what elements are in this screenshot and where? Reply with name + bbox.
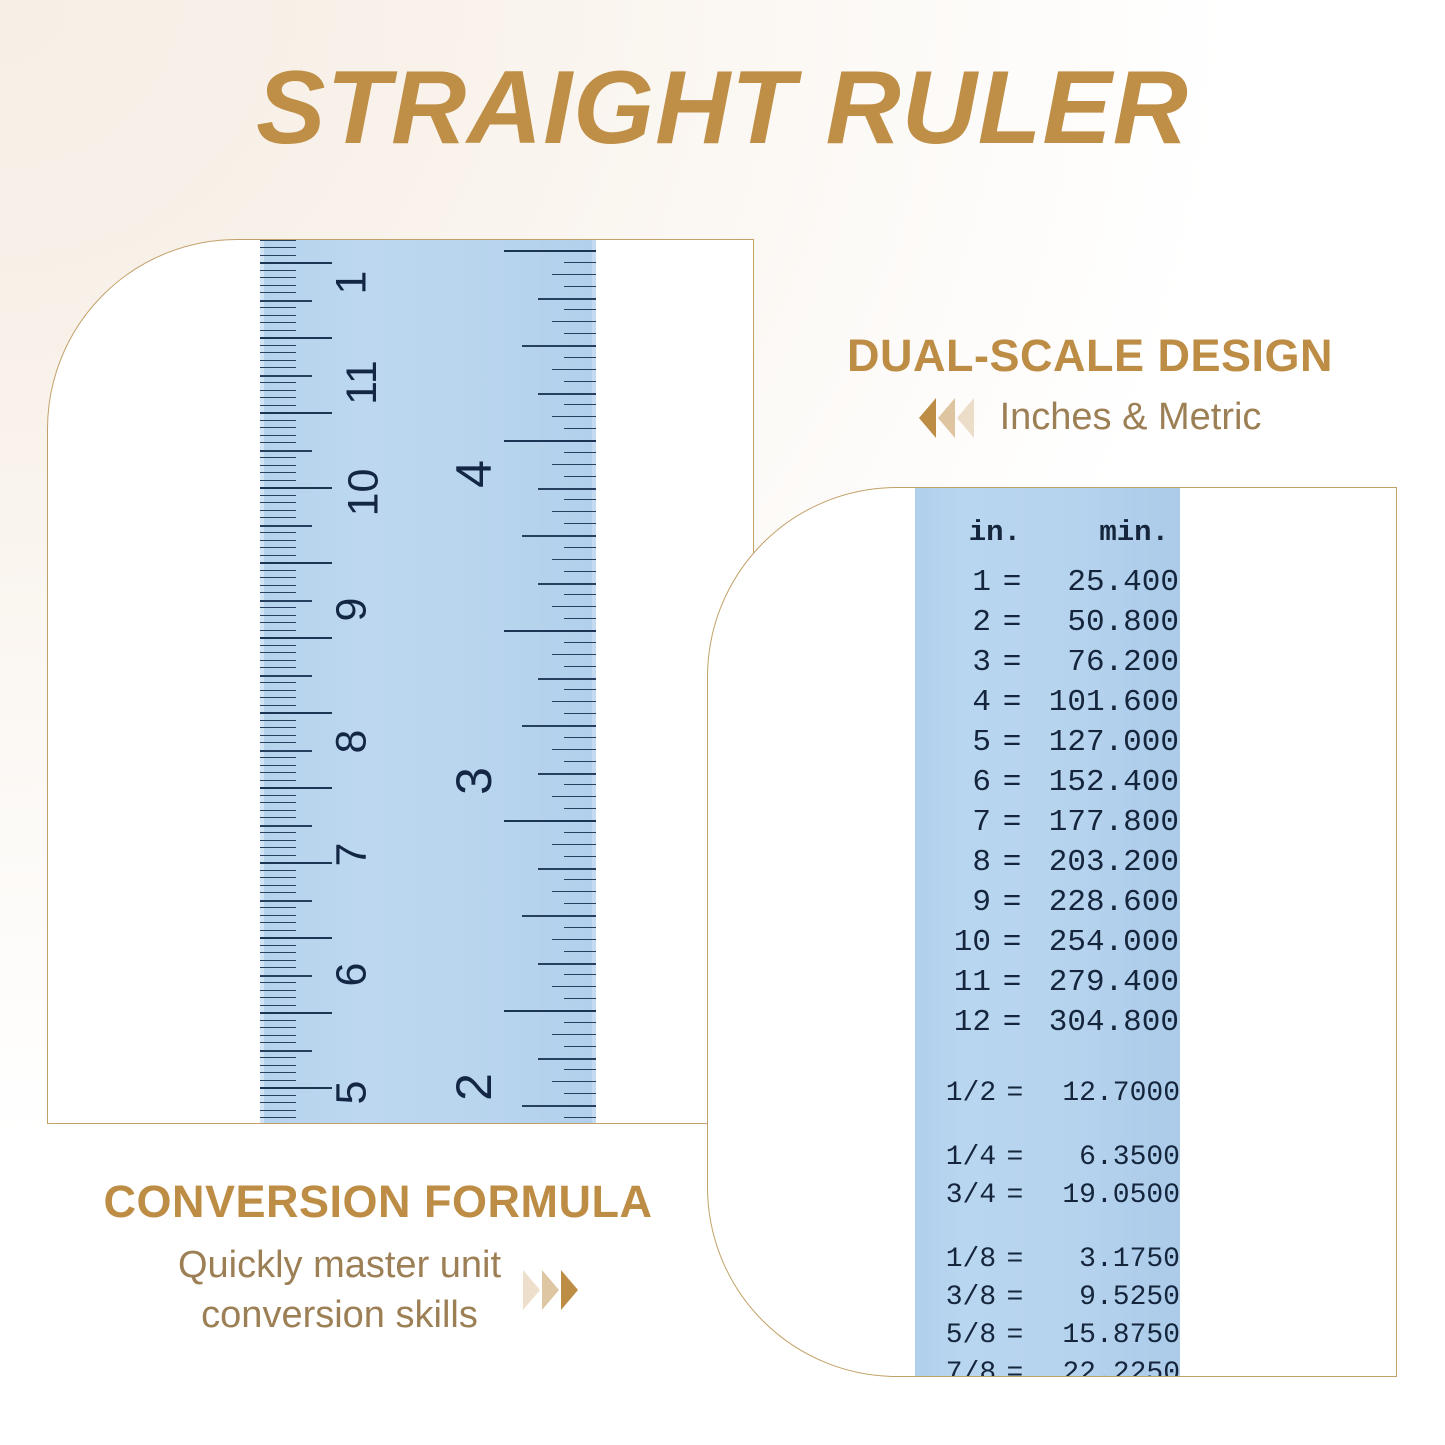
ruler-tick-inch [564, 571, 596, 572]
ruler-tick-inch [564, 832, 596, 833]
ruler-number-metric: 8 [327, 730, 376, 754]
ruler-tick-inch [504, 440, 596, 442]
ruler-tick-metric [260, 885, 296, 886]
product-infographic: STRAIGHT RULER 1111098765 432 in. min. 1… [0, 0, 1445, 1445]
ruler-tick-metric [260, 1102, 296, 1103]
ruler-tick-metric [260, 540, 296, 541]
ruler-tick-inch [538, 963, 596, 965]
ruler-tick-metric [260, 562, 332, 564]
ruler-tick-inch [538, 393, 596, 395]
ruler-tick-metric [260, 420, 296, 421]
ruler-tick-inch [564, 808, 596, 809]
eighth-inch-rows: 1/8=3.17503/8=9.52505/8=15.87507/8=22.22… [915, 1241, 1180, 1377]
equals-sign: = [996, 1075, 1034, 1113]
conversion-formula-title: CONVERSION FORMULA [48, 1176, 708, 1228]
chevron-right-icon [523, 1270, 540, 1310]
ruler-tick-metric [260, 705, 296, 706]
ruler-tick-metric [260, 667, 296, 668]
ruler-tick-metric [260, 285, 296, 286]
equals-sign: = [991, 1003, 1033, 1043]
conversion-inches: 5/8 [925, 1317, 996, 1355]
conversion-millimeters: 127.000 [1033, 723, 1179, 763]
ruler-tick-metric [260, 345, 296, 346]
ruler-tick-inch [564, 286, 596, 287]
ruler-tick-inch [538, 298, 596, 300]
ruler-tick-metric [260, 945, 296, 946]
equals-sign: = [996, 1177, 1034, 1215]
ruler-tick-metric [260, 795, 296, 796]
conversion-inches: 3 [925, 643, 991, 683]
conversion-millimeters: 15.8750 [1034, 1317, 1180, 1355]
ruler-tick-inch [564, 381, 596, 382]
ruler-tick-inch [564, 713, 596, 714]
ruler-tick-metric [260, 720, 296, 721]
equals-sign: = [991, 723, 1033, 763]
ruler-tick-inch [564, 499, 596, 500]
ruler-tick-metric [260, 787, 332, 789]
chevron-right-icon [542, 1270, 559, 1310]
conversion-inches: 4 [925, 683, 991, 723]
ruler-tick-inch [564, 1046, 596, 1047]
feature-conversion-formula: CONVERSION FORMULA Quickly master unit c… [48, 1176, 708, 1340]
ruler-tick-inch [564, 689, 596, 690]
conversion-row: 5=127.000 [915, 723, 1180, 763]
ruler-tick-metric [260, 772, 296, 773]
table-gap [915, 1113, 1180, 1139]
ruler-tick-metric [260, 622, 296, 623]
ruler-tick-inch [564, 476, 596, 477]
ruler-tick-inch [564, 1069, 596, 1070]
ruler-number-metric: 10 [339, 469, 388, 517]
conversion-row: 10=254.000 [915, 923, 1180, 963]
ruler-tick-metric [260, 975, 312, 977]
ruler-tick-metric [260, 990, 296, 991]
ruler-tick-inch [552, 511, 596, 512]
ruler-tick-metric [260, 292, 296, 293]
ruler-tick-metric [260, 615, 296, 616]
ruler-tick-metric [260, 480, 296, 481]
ruler-tick-inch [552, 464, 596, 465]
half-inch-rows: 1/2=12.7000 [915, 1075, 1180, 1113]
ruler-tick-inch [564, 1093, 596, 1094]
ruler-tick-metric [260, 780, 296, 781]
quarter-inch-rows: 1/4=6.35003/4=19.0500 [915, 1139, 1180, 1215]
conversion-row: 8=203.200 [915, 843, 1180, 883]
ruler-tick-metric [260, 870, 296, 871]
conversion-row: 4=101.600 [915, 683, 1180, 723]
conversion-millimeters: 25.400 [1033, 563, 1179, 603]
ruler-tick-inch [564, 951, 596, 952]
chevron-left-icon [919, 398, 936, 438]
ruler-tick-metric [260, 360, 296, 361]
ruler-tick-inch [564, 927, 596, 928]
ruler-number-inch: 3 [445, 767, 503, 795]
ruler-tick-metric [260, 832, 296, 833]
ruler-tick-metric [260, 465, 296, 466]
ruler-tick-metric [260, 600, 312, 602]
conversion-millimeters: 228.600 [1033, 883, 1179, 923]
conversion-row: 3=76.200 [915, 643, 1180, 683]
conversion-row: 7=177.800 [915, 803, 1180, 843]
ruler-tick-inch [564, 594, 596, 595]
ruler-tick-metric [260, 472, 296, 473]
equals-sign: = [996, 1279, 1034, 1317]
ruler-tick-inch [552, 1081, 596, 1082]
conversion-millimeters: 152.400 [1033, 763, 1179, 803]
ruler-tick-metric [260, 547, 296, 548]
ruler-tick-inch [564, 547, 596, 548]
conversion-millimeters: 203.200 [1033, 843, 1179, 883]
ruler-tick-metric [260, 637, 332, 639]
ruler-tick-inch [552, 701, 596, 702]
ruler-tick-metric [260, 1057, 296, 1058]
ruler-tick-metric [260, 532, 296, 533]
ruler-tick-metric [260, 270, 296, 271]
conversion-millimeters: 76.200 [1033, 643, 1179, 683]
ruler-tick-metric [260, 810, 296, 811]
conversion-millimeters: 22.2250 [1034, 1355, 1180, 1377]
equals-sign: = [991, 923, 1033, 963]
conversion-inches: 8 [925, 843, 991, 883]
ruler-tick-metric [260, 1027, 296, 1028]
chevron-left-icon [938, 398, 955, 438]
ruler-tick-metric [260, 390, 296, 391]
ruler-number-metric: 11 [338, 360, 387, 405]
equals-sign: = [991, 803, 1033, 843]
ruler-tick-inch [552, 1034, 596, 1035]
header-millimeters: min. [1021, 516, 1169, 549]
ruler-body: 1111098765 432 [260, 240, 596, 1124]
ruler-tick-inch [564, 784, 596, 785]
conversion-row: 5/8=15.8750 [915, 1317, 1180, 1355]
ruler-tick-metric [260, 352, 296, 353]
ruler-tick-metric [260, 877, 296, 878]
ruler-tick-metric [260, 1042, 296, 1043]
ruler-tick-metric [260, 322, 296, 323]
ruler-number-metric: 1 [327, 271, 376, 295]
ruler-tick-metric [260, 277, 296, 278]
equals-sign: = [991, 603, 1033, 643]
chevron-left-icon [957, 398, 974, 438]
conversion-table-card: in. min. 1=25.4002=50.8003=76.2004=101.6… [707, 487, 1397, 1377]
ruler-tick-metric [260, 847, 296, 848]
chevron-left-icon-group [919, 398, 974, 438]
conversion-inches: 11 [925, 963, 991, 1003]
conversion-subtitle-row: Quickly master unit conversion skills [48, 1240, 708, 1340]
ruler-tick-inch [504, 1010, 596, 1012]
conversion-row: 1/4=6.3500 [915, 1139, 1180, 1177]
conversion-inches: 7/8 [925, 1355, 996, 1377]
ruler-tick-metric [260, 712, 332, 714]
ruler-tick-metric [260, 952, 296, 953]
ruler-tick-metric [260, 375, 312, 377]
ruler-tick-metric [260, 682, 296, 683]
ruler-tick-metric [260, 1072, 296, 1073]
ruler-tick-metric [260, 937, 332, 939]
ruler-tick-inch [564, 333, 596, 334]
ruler-tick-metric [260, 742, 296, 743]
equals-sign: = [996, 1241, 1034, 1279]
ruler-number-metric: 6 [327, 963, 376, 987]
ruler-tick-inch [564, 642, 596, 643]
ruler-tick-metric [260, 1020, 296, 1021]
ruler-tick-inch [538, 868, 596, 870]
conversion-row: 1=25.400 [915, 563, 1180, 603]
ruler-tick-metric [260, 750, 312, 752]
ruler-tick-metric [260, 577, 296, 578]
ruler-tick-metric [260, 442, 296, 443]
ruler-tick-inch [552, 891, 596, 892]
ruler-tick-inch [564, 761, 596, 762]
ruler-tick-inch [564, 879, 596, 880]
ruler-tick-inch [564, 262, 596, 263]
chevron-right-icon [561, 1270, 578, 1310]
equals-sign: = [996, 1355, 1034, 1377]
conversion-inches: 1/2 [925, 1075, 996, 1113]
ruler-tick-metric [260, 517, 296, 518]
ruler-tick-metric [260, 337, 332, 339]
conversion-subtitle: Quickly master unit conversion skills [178, 1240, 501, 1340]
conversion-millimeters: 3.1750 [1034, 1241, 1180, 1279]
ruler-tick-inch [538, 583, 596, 585]
ruler-tick-inch [538, 1058, 596, 1060]
conversion-inches: 1/8 [925, 1241, 996, 1279]
ruler-tick-metric [260, 855, 296, 856]
whole-inch-rows: 1=25.4002=50.8003=76.2004=101.6005=127.0… [915, 563, 1180, 1043]
ruler-tick-metric [260, 405, 296, 406]
conversion-inches: 1 [925, 563, 991, 603]
equals-sign: = [991, 763, 1033, 803]
ruler-tick-inch [552, 274, 596, 275]
ruler-tick-metric [260, 660, 296, 661]
ruler-tick-inch [504, 250, 596, 252]
ruler-tick-metric [260, 862, 332, 864]
ruler-tick-metric [260, 907, 296, 908]
ruler-tick-metric [260, 502, 296, 503]
ruler-tick-inch [552, 749, 596, 750]
ruler-tick-metric [260, 1110, 296, 1111]
ruler-tick-metric [260, 247, 296, 248]
ruler-tick-inch [552, 844, 596, 845]
ruler-number-inch: 4 [445, 460, 503, 488]
conversion-table: in. min. 1=25.4002=50.8003=76.2004=101.6… [915, 516, 1180, 1377]
conversion-inches: 5 [925, 723, 991, 763]
ruler-tick-metric [260, 690, 296, 691]
ruler-tick-metric [260, 262, 332, 264]
ruler-tick-metric [260, 825, 312, 827]
conversion-inches: 10 [925, 923, 991, 963]
equals-sign: = [991, 843, 1033, 883]
ruler-tick-inch [564, 404, 596, 405]
equals-sign: = [996, 1317, 1034, 1355]
conversion-inches: 9 [925, 883, 991, 923]
page-title: STRAIGHT RULER [0, 54, 1445, 163]
ruler-tick-metric [260, 525, 312, 527]
ruler-tick-inch [564, 523, 596, 524]
ruler-tick-metric [260, 967, 296, 968]
conversion-inches: 12 [925, 1003, 991, 1043]
ruler-tick-metric [260, 892, 296, 893]
conversion-millimeters: 19.0500 [1034, 1177, 1180, 1215]
ruler-tick-metric [260, 645, 296, 646]
ruler-tick-inch [564, 1117, 596, 1118]
ruler-tick-inch [552, 559, 596, 560]
ruler-tick-metric [260, 900, 312, 902]
feature-dual-scale: DUAL-SCALE DESIGN Inches & Metric [790, 330, 1390, 439]
ruler-tick-metric [260, 930, 296, 931]
ruler-tick-metric [260, 412, 332, 414]
conversion-row: 6=152.400 [915, 763, 1180, 803]
conversion-inches: 7 [925, 803, 991, 843]
ruler-tick-metric [260, 570, 296, 571]
conversion-millimeters: 177.800 [1033, 803, 1179, 843]
ruler-tick-inch [564, 998, 596, 999]
conversion-inches: 3/4 [925, 1177, 996, 1215]
conversion-row: 1/2=12.7000 [915, 1075, 1180, 1113]
ruler-tick-inch [564, 903, 596, 904]
ruler-tick-metric [260, 915, 296, 916]
ruler-tick-metric [260, 997, 296, 998]
ruler-tick-inch [564, 666, 596, 667]
ruler-tick-metric [260, 330, 296, 331]
ruler-tick-metric [260, 840, 296, 841]
ruler-tick-metric [260, 1087, 332, 1089]
ruler-tick-metric [260, 757, 296, 758]
ruler-tick-inch [522, 345, 596, 347]
ruler-tick-metric [260, 697, 296, 698]
ruler-tick-inch [552, 369, 596, 370]
ruler-tick-inch [552, 654, 596, 655]
conversion-inches: 6 [925, 763, 991, 803]
ruler-tick-metric [260, 922, 296, 923]
ruler-tick-inch [504, 820, 596, 822]
ruler-tick-metric [260, 585, 296, 586]
equals-sign: = [991, 963, 1033, 1003]
ruler-tick-metric [260, 435, 296, 436]
ruler-tick-metric [260, 300, 312, 302]
dual-scale-subtitle: Inches & Metric [1000, 396, 1262, 439]
ruler-tick-metric [260, 255, 296, 256]
ruler-tick-metric [260, 1065, 296, 1066]
ruler-tick-inch [552, 796, 596, 797]
equals-sign: = [996, 1139, 1034, 1177]
ruler-tick-metric [260, 457, 296, 458]
ruler-tick-metric [260, 675, 312, 677]
conversion-row: 1/8=3.1750 [915, 1241, 1180, 1279]
ruler-tick-metric [260, 630, 296, 631]
ruler-tick-inch [564, 428, 596, 429]
ruler-tick-metric [260, 607, 296, 608]
ruler-tick-inch [538, 488, 596, 490]
equals-sign: = [991, 563, 1033, 603]
ruler-number-metric: 5 [327, 1081, 376, 1105]
ruler-tick-metric [260, 382, 296, 383]
ruler-tick-metric [260, 960, 296, 961]
conversion-inches: 2 [925, 603, 991, 643]
ruler-number-metric: 7 [327, 843, 376, 867]
table-gap [915, 1215, 1180, 1241]
ruler-tick-inch [552, 606, 596, 607]
conversion-row: 7/8=22.2250 [915, 1355, 1180, 1377]
equals-sign: = [991, 643, 1033, 683]
ruler-tick-inch [564, 357, 596, 358]
ruler-tick-metric [260, 1005, 296, 1006]
ruler-tick-metric [260, 1012, 332, 1014]
ruler-tick-metric [260, 495, 296, 496]
conversion-millimeters: 254.000 [1033, 923, 1179, 963]
chevron-right-icon-group [523, 1270, 578, 1310]
ruler-tick-metric [260, 802, 296, 803]
ruler-tick-inch [564, 1022, 596, 1023]
ruler-tick-metric [260, 397, 296, 398]
ruler-tick-metric [260, 315, 296, 316]
conversion-row: 3/4=19.0500 [915, 1177, 1180, 1215]
ruler-tick-metric [260, 817, 296, 818]
ruler-tick-metric [260, 727, 296, 728]
conversion-subtitle-line1: Quickly master unit [178, 1244, 501, 1286]
ruler-tick-inch [564, 737, 596, 738]
ruler-tick-metric [260, 1035, 296, 1036]
dual-scale-subtitle-row: Inches & Metric [790, 396, 1390, 439]
conversion-millimeters: 101.600 [1033, 683, 1179, 723]
ruler-tick-metric [260, 765, 296, 766]
ruler-tick-inch [564, 452, 596, 453]
ruler-number-metric: 9 [327, 598, 376, 622]
ruler-tick-inch [522, 1105, 596, 1107]
ruler-number-inch: 2 [445, 1073, 503, 1101]
ruler-tick-metric [260, 1095, 296, 1096]
header-inches: in. [925, 516, 1021, 549]
ruler-tick-inch [564, 856, 596, 857]
ruler-tick-metric [260, 307, 296, 308]
ruler-tick-inch [564, 309, 596, 310]
ruler-tick-inch [538, 678, 596, 680]
ruler-tick-metric [260, 1050, 312, 1052]
conversion-subtitle-line2: conversion skills [201, 1294, 478, 1336]
ruler-tick-inch [552, 986, 596, 987]
ruler-tick-inch [522, 725, 596, 727]
ruler-tick-inch [564, 618, 596, 619]
ruler-tick-metric [260, 240, 296, 241]
dual-scale-title: DUAL-SCALE DESIGN [790, 330, 1390, 382]
ruler-tick-metric [260, 367, 296, 368]
ruler-tick-metric [260, 592, 296, 593]
ruler-tick-metric [260, 427, 296, 428]
ruler-right-edge-highlight [592, 240, 596, 1124]
conversion-millimeters: 279.400 [1033, 963, 1179, 1003]
ruler-tick-inch [564, 974, 596, 975]
conversion-inches: 1/4 [925, 1139, 996, 1177]
ruler-tick-metric [260, 735, 296, 736]
conversion-millimeters: 9.5250 [1034, 1279, 1180, 1317]
conversion-row: 9=228.600 [915, 883, 1180, 923]
ruler-tick-inch [522, 535, 596, 537]
ruler-tick-metric [260, 1080, 296, 1081]
equals-sign: = [991, 683, 1033, 723]
conversion-row: 11=279.400 [915, 963, 1180, 1003]
ruler-tick-metric [260, 652, 296, 653]
ruler-tick-inch [504, 630, 596, 632]
conversion-millimeters: 6.3500 [1034, 1139, 1180, 1177]
ruler-tick-metric [260, 555, 296, 556]
conversion-table-header: in. min. [915, 516, 1180, 549]
ruler-photo-card: 1111098765 432 [47, 239, 754, 1124]
conversion-strip: in. min. 1=25.4002=50.8003=76.2004=101.6… [915, 488, 1180, 1377]
equals-sign: = [991, 883, 1033, 923]
ruler-tick-metric [260, 1117, 296, 1118]
ruler-tick-inch [538, 773, 596, 775]
ruler-tick-inch [522, 915, 596, 917]
